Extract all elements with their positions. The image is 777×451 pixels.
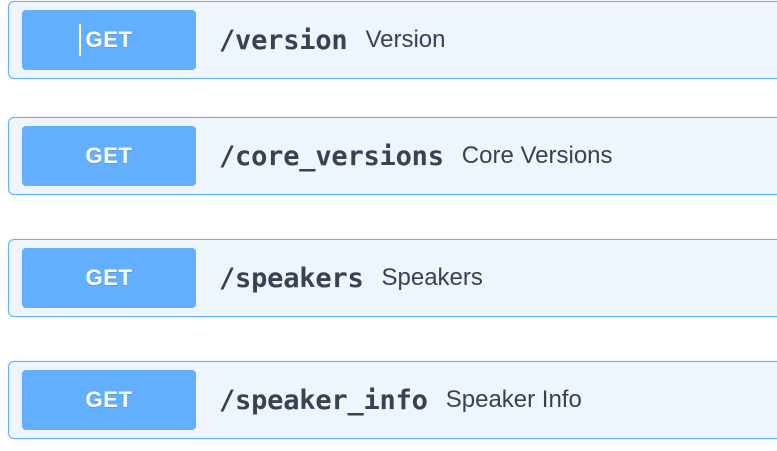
http-method-label: GET <box>85 265 132 291</box>
http-method-badge-get[interactable]: GET <box>22 370 196 430</box>
endpoint-summary: Core Versions <box>462 142 613 170</box>
api-endpoint-list: GET /version Version GET /core_versions … <box>0 0 777 451</box>
endpoint-path: /version <box>219 25 347 56</box>
http-method-label: GET <box>85 143 132 169</box>
http-method-label: GET <box>85 387 132 413</box>
endpoint-row-speakers[interactable]: GET /speakers Speakers <box>8 239 777 317</box>
endpoint-row-core-versions[interactable]: GET /core_versions Core Versions <box>8 117 777 195</box>
http-method-badge-get[interactable]: GET <box>22 126 196 186</box>
endpoint-summary: Speakers <box>382 264 483 292</box>
endpoint-path: /speakers <box>219 263 364 294</box>
endpoint-row-speaker-info[interactable]: GET /speaker_info Speaker Info <box>8 361 777 439</box>
http-method-badge-get[interactable]: GET <box>22 248 196 308</box>
endpoint-summary: Version <box>365 26 445 54</box>
endpoint-path: /speaker_info <box>219 385 428 416</box>
text-caret <box>79 24 81 56</box>
endpoint-row-version[interactable]: GET /version Version <box>8 1 777 79</box>
endpoint-path: /core_versions <box>219 141 444 172</box>
http-method-badge-get[interactable]: GET <box>22 10 196 70</box>
http-method-label: GET <box>85 27 132 53</box>
endpoint-summary: Speaker Info <box>446 386 582 414</box>
